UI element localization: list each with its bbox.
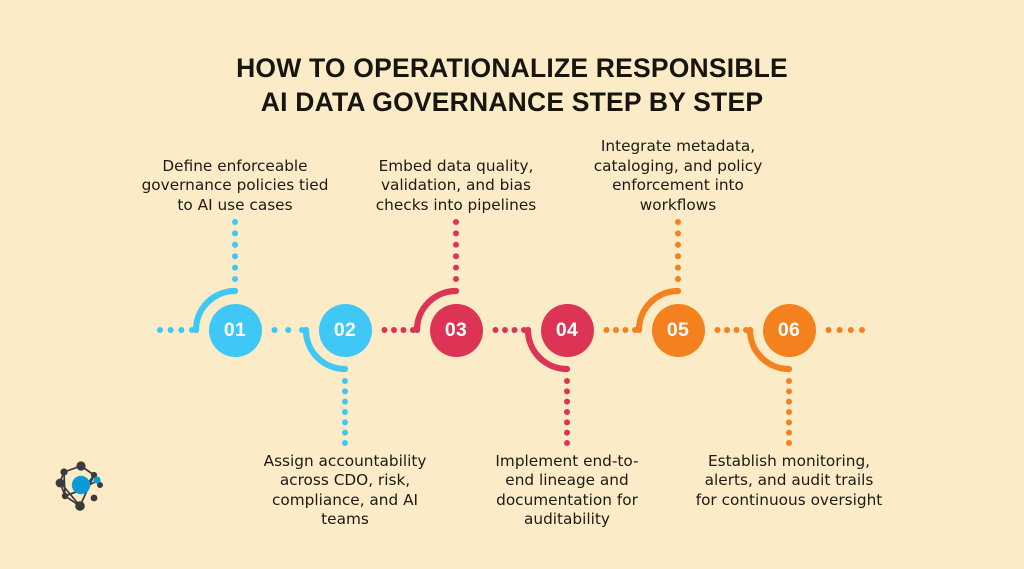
dotted-line-segment-4: [604, 327, 639, 333]
caption-line: validation, and bias: [336, 176, 576, 195]
caption-line: Establish monitoring,: [669, 452, 909, 471]
caption-line: end lineage and: [447, 471, 687, 490]
caption-line: compliance, and AI: [225, 491, 465, 510]
caption-line: teams: [225, 510, 465, 529]
step-number-label: 06: [778, 319, 800, 342]
step-caption-01: Define enforceablegovernance policies ti…: [115, 157, 355, 215]
caption-line: to AI use cases: [115, 196, 355, 215]
step-caption-06: Establish monitoring,alerts, and audit t…: [669, 452, 909, 510]
step-node-06[interactable]: 06: [763, 304, 816, 357]
step-node-02[interactable]: 02: [319, 304, 372, 357]
network-graph-logo: [50, 458, 112, 520]
step-caption-02: Assign accountabilityacross CDO, risk,co…: [225, 452, 465, 530]
step-number-label: 01: [224, 319, 246, 342]
dotted-line-segment-5: [715, 327, 750, 333]
caption-line: Embed data quality,: [336, 157, 576, 176]
step-number-label: 05: [667, 319, 689, 342]
dotted-line-segment-3: [493, 327, 528, 333]
caption-line: Assign accountability: [225, 452, 465, 471]
page-title: HOW TO OPERATIONALIZE RESPONSIBLE AI DAT…: [0, 52, 1024, 119]
step-number-label: 02: [334, 319, 356, 342]
step-node-05[interactable]: 05: [652, 304, 705, 357]
caption-line: Implement end-to-: [447, 452, 687, 471]
dotted-line-trail: [826, 327, 866, 333]
step-node-03[interactable]: 03: [430, 304, 483, 357]
dotted-line-lead: [157, 327, 195, 333]
caption-line: cataloging, and policy: [558, 157, 798, 176]
step-caption-05: Integrate metadata,cataloging, and polic…: [558, 137, 798, 215]
dotted-riser-03: [453, 219, 459, 282]
dotted-riser-06: [786, 378, 792, 446]
step-caption-03: Embed data quality,validation, and biasc…: [336, 157, 576, 215]
step-number-label: 04: [556, 319, 578, 342]
caption-line: auditability: [447, 510, 687, 529]
infographic-canvas: HOW TO OPERATIONALIZE RESPONSIBLE AI DAT…: [0, 0, 1024, 569]
caption-line: enforcement into: [558, 176, 798, 195]
dotted-line-segment-2: [382, 327, 417, 333]
step-node-04[interactable]: 04: [541, 304, 594, 357]
step-number-label: 03: [445, 319, 467, 342]
caption-line: documentation for: [447, 491, 687, 510]
dotted-riser-02: [342, 378, 348, 446]
title-line-2: AI DATA GOVERNANCE STEP BY STEP: [0, 86, 1024, 120]
caption-line: Integrate metadata,: [558, 137, 798, 156]
step-node-01[interactable]: 01: [209, 304, 262, 357]
dotted-line-segment-1: [272, 327, 306, 333]
caption-line: workflows: [558, 196, 798, 215]
step-caption-04: Implement end-to-end lineage anddocument…: [447, 452, 687, 530]
title-line-1: HOW TO OPERATIONALIZE RESPONSIBLE: [0, 52, 1024, 86]
caption-line: alerts, and audit trails: [669, 471, 909, 490]
caption-line: for continuous oversight: [669, 491, 909, 510]
caption-line: Define enforceable: [115, 157, 355, 176]
caption-line: governance policies tied: [115, 176, 355, 195]
dotted-riser-05: [675, 219, 681, 282]
caption-line: checks into pipelines: [336, 196, 576, 215]
dotted-riser-01: [232, 219, 238, 282]
dotted-riser-04: [564, 378, 570, 446]
caption-line: across CDO, risk,: [225, 471, 465, 490]
